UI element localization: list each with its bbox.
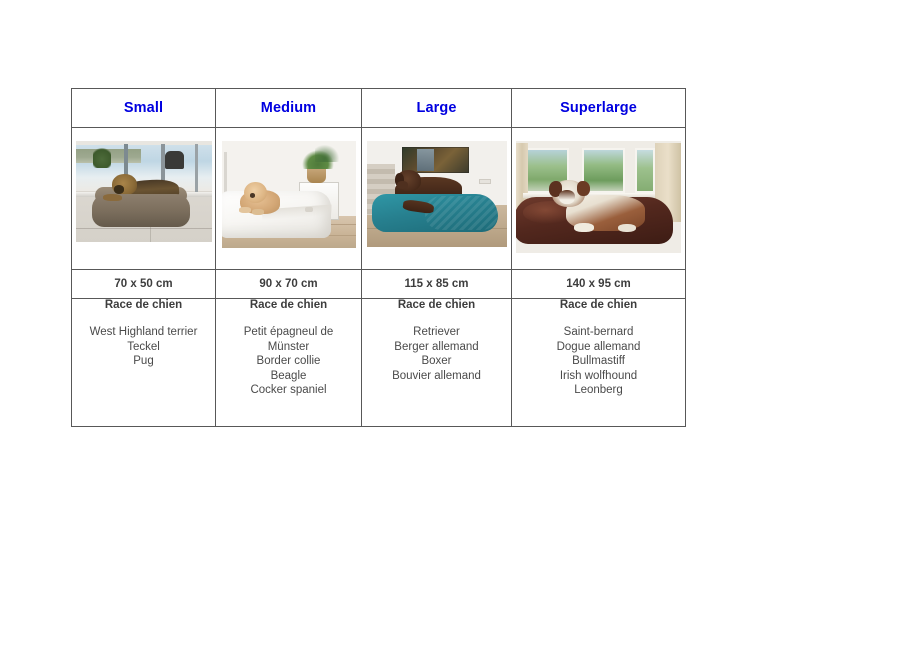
bed-dimensions-label: 115 x 85 cm [362, 270, 511, 298]
breed-section-title: Race de chien [362, 299, 511, 311]
column-header-label: Large [362, 89, 511, 127]
breed-item: West Highland terrier [72, 325, 215, 340]
wall-artwork [402, 147, 469, 172]
dog-nose [250, 193, 255, 197]
dog-bed-size-table: Small Medium Large Superlarge [71, 88, 686, 427]
breed-item: Bouvier allemand [362, 369, 511, 384]
breed-list: West Highland terrier Teckel Pug [72, 325, 215, 369]
size-cell-medium: 90 x 70 cm [216, 270, 362, 299]
photo-scene [367, 141, 507, 247]
header-cell-small: Small [72, 89, 216, 128]
table-photo-row [72, 128, 686, 270]
breed-section-title: Race de chien [512, 299, 685, 311]
dog-bed-photo-medium [222, 141, 356, 248]
artwork-detail [417, 149, 434, 170]
dog-paw [618, 224, 636, 232]
photo-scene [516, 141, 681, 253]
photo-cell-small [72, 128, 216, 270]
breed-list: Retriever Berger allemand Boxer Bouvier … [362, 325, 511, 383]
bed-dimensions-label: 70 x 50 cm [72, 270, 215, 298]
breed-item: Retriever [362, 325, 511, 340]
breed-item: Irish wolfhound [512, 369, 685, 384]
dog-bed-photo-small [76, 141, 212, 242]
cushion-tag [305, 207, 313, 211]
dog-ear [577, 181, 590, 196]
table-breed-row: Race de chien West Highland terrier Teck… [72, 299, 686, 427]
breed-item: Teckel [72, 340, 215, 355]
page-canvas: Small Medium Large Superlarge [0, 0, 900, 660]
dog-bed-photo-superlarge [516, 141, 681, 253]
dog-head [244, 182, 267, 203]
plant-foliage [315, 145, 339, 162]
dog-muzzle [114, 185, 125, 193]
breed-item: Bullmastiff [512, 354, 685, 369]
window [635, 148, 655, 193]
breed-item: Leonberg [512, 383, 685, 398]
breed-section-title: Race de chien [72, 299, 215, 311]
breed-cell-superlarge: Race de chien Saint-bernard Dogue allema… [512, 299, 686, 427]
photo-scene [222, 141, 356, 248]
breed-cell-small: Race de chien West Highland terrier Teck… [72, 299, 216, 427]
header-cell-large: Large [362, 89, 512, 128]
table-header-row: Small Medium Large Superlarge [72, 89, 686, 128]
breed-section-title: Race de chien [216, 299, 361, 311]
column-header-label: Small [72, 89, 215, 127]
dog-paw [103, 194, 122, 201]
wall-socket [479, 179, 492, 184]
header-cell-superlarge: Superlarge [512, 89, 686, 128]
dog-paw [252, 209, 264, 214]
table-size-row: 70 x 50 cm 90 x 70 cm 115 x 85 cm 140 x … [72, 270, 686, 299]
breed-cell-large: Race de chien Retriever Berger allemand … [362, 299, 512, 427]
size-cell-small: 70 x 50 cm [72, 270, 216, 299]
photo-cell-superlarge [512, 128, 686, 270]
photo-cell-large [362, 128, 512, 270]
size-cell-large: 115 x 85 cm [362, 270, 512, 299]
dog-muzzle [559, 190, 576, 203]
breed-item: Beagle [216, 369, 361, 384]
bed-dimensions-label: 90 x 70 cm [216, 270, 361, 298]
dog-paw [574, 223, 594, 232]
cushion-texture [425, 196, 498, 230]
breed-item: Cocker spaniel [216, 383, 361, 398]
bed-dimensions-label: 140 x 95 cm [512, 270, 685, 298]
window-mullion [195, 144, 198, 195]
breed-list: Petit épagneul de Münster Border collie … [216, 325, 361, 398]
breed-item: Dogue allemand [512, 340, 685, 355]
tile-seam [76, 228, 212, 229]
bush-layer [93, 146, 111, 168]
dog-bed-photo-large [367, 141, 507, 247]
breed-item: Boxer [362, 354, 511, 369]
photo-scene [76, 141, 212, 242]
dog-muzzle [397, 181, 408, 188]
header-cell-medium: Medium [216, 89, 362, 128]
size-cell-superlarge: 140 x 95 cm [512, 270, 686, 299]
outdoor-object [165, 151, 184, 169]
photo-cell-medium [216, 128, 362, 270]
breed-item: Border collie [216, 354, 361, 369]
dog-paw [239, 207, 251, 212]
column-header-label: Superlarge [512, 89, 685, 127]
breed-item: Berger allemand [362, 340, 511, 355]
breed-item: Münster [216, 340, 361, 355]
breed-item: Petit épagneul de [216, 325, 361, 340]
breed-cell-medium: Race de chien Petit épagneul de Münster … [216, 299, 362, 427]
breed-item: Saint-bernard [512, 325, 685, 340]
column-header-label: Medium [216, 89, 361, 127]
breed-list: Saint-bernard Dogue allemand Bullmastiff… [512, 325, 685, 398]
breed-item: Pug [72, 354, 215, 369]
